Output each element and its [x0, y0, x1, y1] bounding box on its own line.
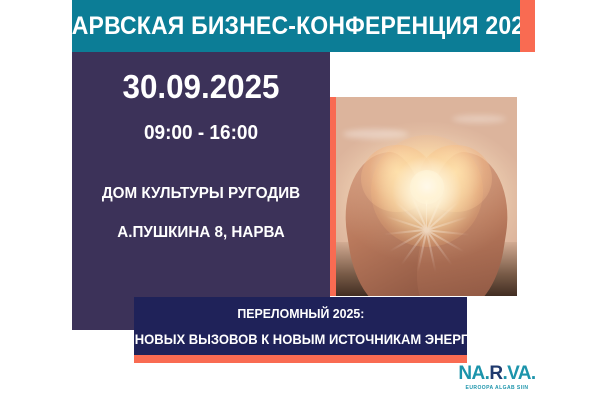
header-accent-bar	[520, 0, 535, 52]
page-title: НАРВСКАЯ БИЗНЕС-КОНФЕРЕНЦИЯ 2025	[55, 14, 537, 39]
header-band: НАРВСКАЯ БИЗНЕС-КОНФЕРЕНЦИЯ 2025	[72, 0, 520, 52]
event-date: 30.09.2025	[78, 70, 323, 103]
logo-text-na: NA	[458, 363, 484, 384]
tagline-line-2: ОТ НОВЫХ ВЫЗОВОВ К НОВЫМ ИСТОЧНИКАМ ЭНЕР…	[114, 332, 488, 346]
venue-block: ДОМ КУЛЬТУРЫ РУГОДИВ А.ПУШКИНА 8, НАРВА	[72, 186, 330, 241]
photo-cloud	[452, 115, 506, 123]
narva-slogan: EUROOPA ALGAB SIIN	[458, 386, 536, 391]
narva-wordmark: NA.R.VA.	[458, 364, 536, 383]
photo-cloud	[343, 129, 408, 139]
logo-text-va: VA	[507, 363, 531, 384]
conference-poster: НАРВСКАЯ БИЗНЕС-КОНФЕРЕНЦИЯ 2025 30.09.2…	[0, 0, 600, 400]
tagline-accent-bar	[134, 355, 467, 363]
logo-text-r: R	[489, 363, 502, 384]
hands-holding-sun-photo	[336, 97, 517, 296]
venue-name: ДОМ КУЛЬТУРЫ РУГОДИВ	[78, 186, 323, 202]
sun-core	[410, 170, 444, 204]
date-block: 30.09.2025 09:00 - 16:00	[72, 52, 330, 143]
tagline-line-1: ПЕРЕЛОМНЫЙ 2025:	[237, 307, 364, 320]
narva-logo: NA.R.VA. EUROOPA ALGAB SIIN	[458, 364, 536, 391]
logo-dot: .	[531, 363, 536, 384]
venue-address: А.ПУШКИНА 8, НАРВА	[78, 225, 323, 241]
tagline-band: ПЕРЕЛОМНЫЙ 2025: ОТ НОВЫХ ВЫЗОВОВ К НОВЫ…	[134, 297, 467, 355]
event-time: 09:00 - 16:00	[78, 123, 323, 143]
